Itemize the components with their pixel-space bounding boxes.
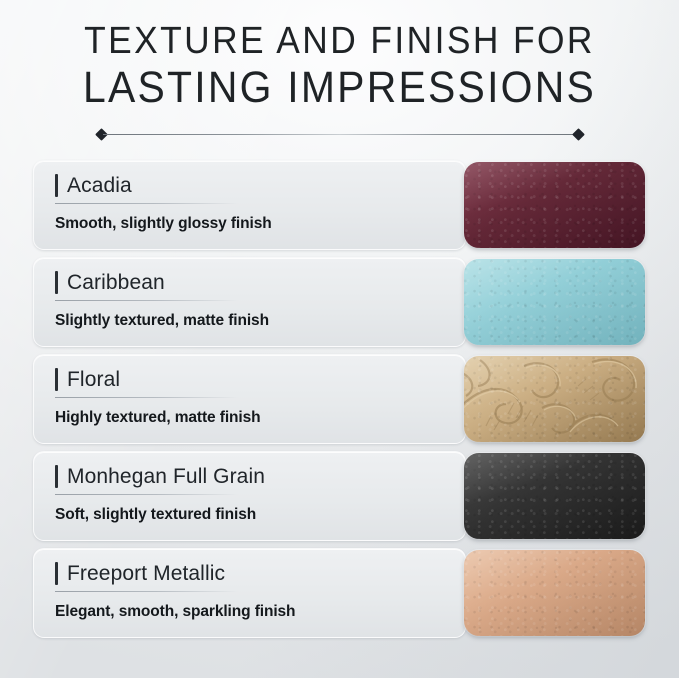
accent-bar-icon [55, 368, 58, 391]
swatch-list: Acadia Smooth, slightly glossy finish Ca… [0, 160, 679, 638]
swatch-sheen-overlay [464, 259, 645, 345]
title-divider [97, 128, 583, 142]
swatch-sheen-overlay [464, 453, 645, 539]
swatch-card[interactable]: Acadia Smooth, slightly glossy finish [33, 160, 466, 250]
freeport-metallic-swatch[interactable] [464, 550, 645, 636]
poster-header: TEXTURE AND FINISH FOR LASTING IMPRESSIO… [0, 0, 679, 142]
swatch-row: Acadia Smooth, slightly glossy finish [0, 160, 679, 250]
swatch-row: Freeport Metallic Elegant, smooth, spark… [0, 548, 679, 638]
swatch-description: Highly textured, matte finish [55, 409, 447, 427]
page-title-line-1: TEXTURE AND FINISH FOR [24, 22, 655, 61]
accent-bar-icon [55, 174, 58, 197]
swatch-card-header: Acadia [55, 174, 447, 198]
swatch-card-header: Freeport Metallic [55, 562, 447, 586]
swatch-name-underline [55, 397, 238, 398]
swatch-row: Monhegan Full Grain Soft, slightly textu… [0, 451, 679, 541]
swatch-name: Monhegan Full Grain [67, 465, 265, 489]
swatch-card[interactable]: Freeport Metallic Elegant, smooth, spark… [33, 548, 466, 638]
swatch-description: Elegant, smooth, sparkling finish [55, 603, 447, 621]
swatch-card[interactable]: Floral Highly textured, matte finish [33, 354, 466, 444]
swatch-card-header: Floral [55, 368, 447, 392]
swatch-name: Acadia [67, 174, 132, 198]
monhegan-full-grain-swatch[interactable] [464, 453, 645, 539]
swatch-card-header: Caribbean [55, 271, 447, 295]
swatch-sheen-overlay [464, 550, 645, 636]
swatch-name: Caribbean [67, 271, 165, 295]
swatch-description: Smooth, slightly glossy finish [55, 215, 447, 233]
swatch-sheen-overlay [464, 162, 645, 248]
swatch-sheen-overlay [464, 356, 645, 442]
swatch-name-underline [55, 203, 238, 204]
swatch-name-underline [55, 591, 238, 592]
swatch-card-header: Monhegan Full Grain [55, 465, 447, 489]
accent-bar-icon [55, 271, 58, 294]
swatch-description: Slightly textured, matte finish [55, 312, 447, 330]
swatch-description: Soft, slightly textured finish [55, 506, 447, 524]
acadia-swatch[interactable] [464, 162, 645, 248]
swatch-row: Floral Highly textured, matte finish [0, 354, 679, 444]
swatch-name: Floral [67, 368, 120, 392]
swatch-name-underline [55, 494, 238, 495]
texture-finish-poster: TEXTURE AND FINISH FOR LASTING IMPRESSIO… [0, 0, 679, 678]
swatch-row: Caribbean Slightly textured, matte finis… [0, 257, 679, 347]
floral-swatch[interactable] [464, 356, 645, 442]
swatch-card[interactable]: Monhegan Full Grain Soft, slightly textu… [33, 451, 466, 541]
swatch-card[interactable]: Caribbean Slightly textured, matte finis… [33, 257, 466, 347]
swatch-name-underline [55, 300, 238, 301]
accent-bar-icon [55, 465, 58, 488]
diamond-icon-right [572, 128, 585, 141]
accent-bar-icon [55, 562, 58, 585]
swatch-name: Freeport Metallic [67, 562, 225, 586]
divider-line [103, 134, 577, 135]
page-title-line-2: LASTING IMPRESSIONS [24, 66, 655, 111]
caribbean-swatch[interactable] [464, 259, 645, 345]
